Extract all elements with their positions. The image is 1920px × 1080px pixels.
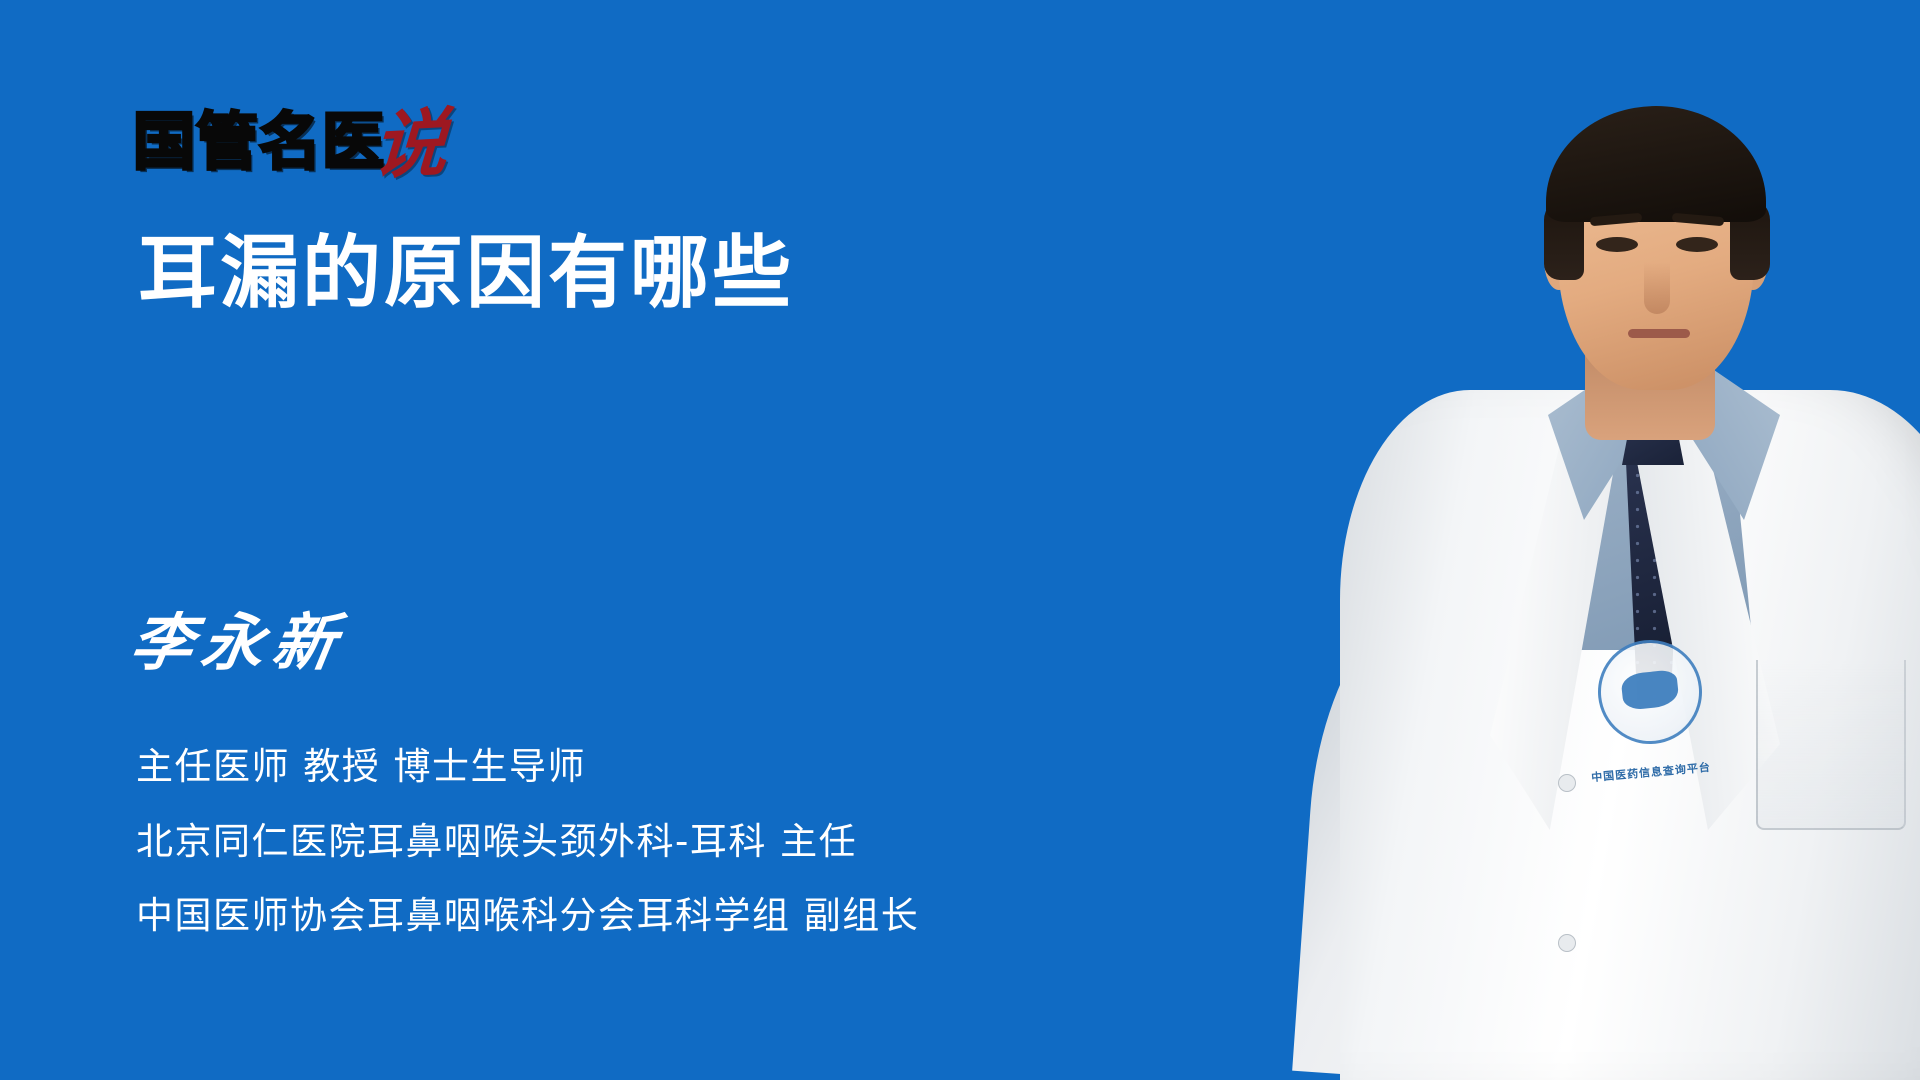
doctor-credentials: 主任医师 教授 博士生导师 北京同仁医院耳鼻咽喉头颈外科-耳科 主任 中国医师协… <box>136 746 919 938</box>
brand-logo-accent-text: 说 <box>371 109 449 181</box>
credential-line: 北京同仁医院耳鼻咽喉头颈外科-耳科 主任 <box>136 821 919 864</box>
eye-left-shape <box>1596 237 1638 252</box>
page-title: 耳漏的原因有哪些 <box>138 232 794 315</box>
slide-canvas: 国管名医 说 耳漏的原因有哪些 李永新 主任医师 教授 博士生导师 北京同仁医院… <box>0 0 1920 1080</box>
coat-button <box>1558 934 1576 952</box>
mouth-shape <box>1628 329 1690 338</box>
brand-logo-main-text: 国管名医 <box>133 111 385 173</box>
nose-shape <box>1644 262 1670 314</box>
coat-pocket-shape <box>1756 660 1906 830</box>
doctor-portrait-image: 中国医药信息查询平台 <box>1160 0 1920 1080</box>
brand-logo: 国管名医 说 <box>133 95 447 173</box>
doctor-name: 李永新 <box>125 592 352 682</box>
eye-right-shape <box>1676 237 1718 252</box>
credential-line: 中国医师协会耳鼻咽喉科分会耳科学组 副组长 <box>136 895 919 938</box>
credential-line: 主任医师 教授 博士生导师 <box>136 746 919 789</box>
hair-top-shape <box>1546 106 1766 222</box>
